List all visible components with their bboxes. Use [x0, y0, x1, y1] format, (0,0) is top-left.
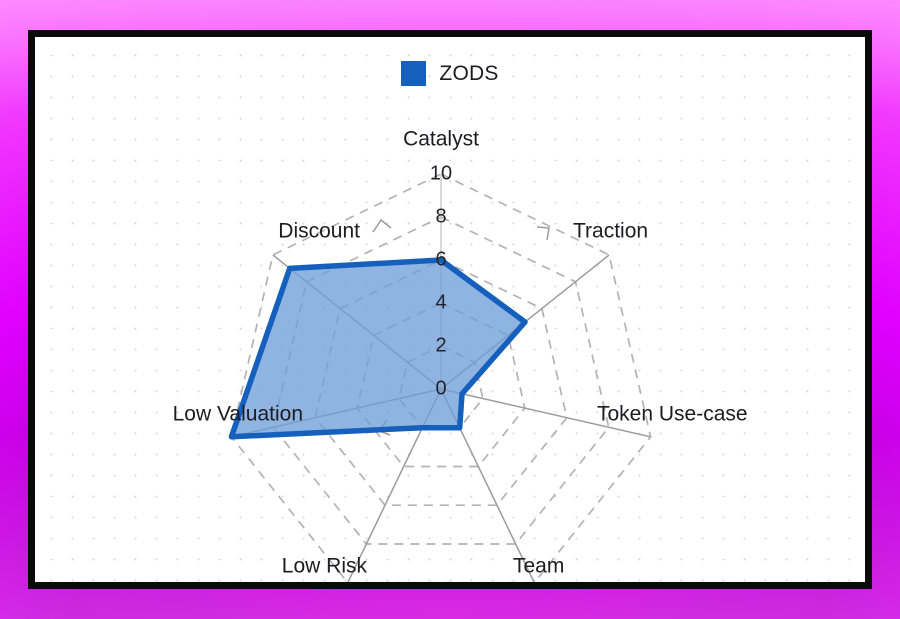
chart-legend: ZODS	[35, 61, 865, 86]
chart-card: ZODS	[28, 30, 872, 589]
axis-label-team: Team	[513, 555, 564, 578]
legend-swatch-zods	[401, 61, 426, 86]
tick-label-0: 0	[435, 377, 446, 399]
legend-label-zods: ZODS	[439, 62, 498, 86]
axis-label-low-valuation: Low Valuation	[173, 403, 303, 426]
tick-label-8: 8	[435, 205, 446, 227]
tick-label-2: 2	[435, 334, 446, 356]
tick-label-6: 6	[435, 248, 446, 270]
radar-chart-plot: 10 8 6 4 2 0 Catalyst Traction Token Use…	[35, 37, 865, 582]
axis-label-token-use-case: Token Use-case	[597, 403, 748, 426]
axis-label-catalyst: Catalyst	[403, 128, 479, 151]
app-frame: ZODS	[0, 0, 900, 619]
axis-label-traction: Traction	[573, 220, 648, 243]
tick-label-4: 4	[435, 291, 446, 313]
axis-label-low-risk: Low Risk	[282, 555, 368, 578]
tick-label-10: 10	[430, 162, 452, 184]
arrowhead-discount-icon	[373, 220, 391, 232]
arrowhead-traction-icon	[537, 227, 549, 240]
axis-label-discount: Discount	[278, 220, 360, 243]
